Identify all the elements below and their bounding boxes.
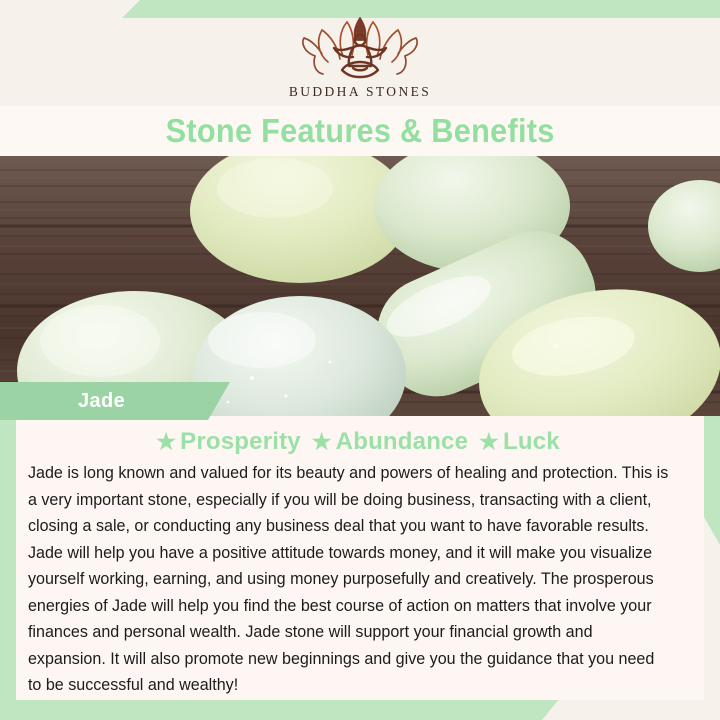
stone-name-tag: Jade [0,382,230,420]
star-icon-3: ★ [479,429,499,454]
benefits-row: ★Prosperity ★Abundance ★Luck [26,428,694,456]
infographic-page: BUDDHA STONES Stone Features & Benefits [0,0,720,720]
page-title: Stone Features & Benefits [165,112,554,150]
benefit-luck: Luck [503,428,560,455]
star-icon-1: ★ [156,429,176,454]
star-icon-2: ★ [312,429,332,454]
benefit-abundance: Abundance [336,428,468,455]
stone-name-label: Jade [78,390,125,413]
description-card: ★Prosperity ★Abundance ★Luck Jade is lon… [16,416,704,700]
benefit-prosperity: Prosperity [180,428,301,455]
title-banner: Stone Features & Benefits [0,106,720,156]
brand-header: BUDDHA STONES [0,0,720,108]
lotus-meditation-icon [298,16,422,82]
description-text: Jade is long known and valued for its be… [26,460,674,699]
decorative-band-bottom [0,698,720,720]
brand-name: BUDDHA STONES [289,84,431,100]
stone-photo [0,156,720,416]
